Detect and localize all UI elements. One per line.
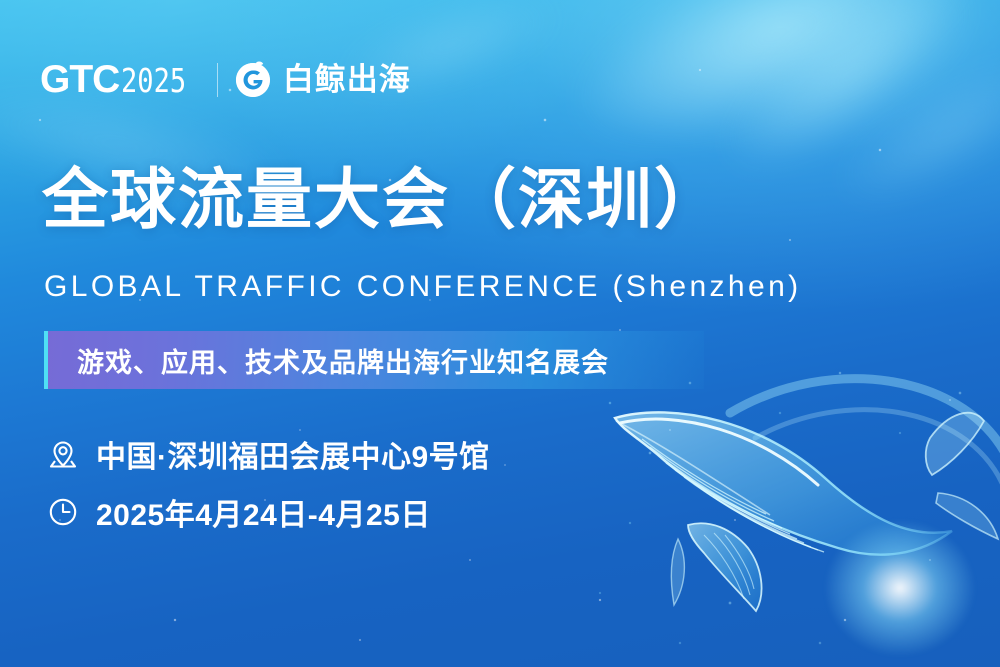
info-date-text: 2025年4月24日-4月25日 (96, 490, 431, 534)
gtc-logo: GTC 2025 (40, 60, 201, 99)
logo-divider (217, 63, 218, 97)
gtc-logo-text: GTC (40, 60, 119, 99)
location-pin-icon (46, 437, 80, 471)
nebula-wisp (548, 0, 1000, 185)
brand-name-text: 白鲸出海 (283, 64, 411, 95)
conference-banner: GTC 2025 白鲸出海 全球流量大会（深圳） GLOBAL TRAFFIC … (0, 0, 1000, 667)
page-title-en: GLOBAL TRAFFIC CONFERENCE (Shenzhen) (44, 270, 802, 304)
header-logo-row: GTC 2025 白鲸出海 (40, 60, 411, 99)
tagline-text: 游戏、应用、技术及品牌出海行业知名展会 (77, 341, 609, 380)
nebula-wisp (701, 0, 998, 198)
whale-circle-g-logo-icon (234, 61, 272, 99)
info-row-location: 中国·深圳福田会展中心9号馆 (46, 432, 490, 476)
info-location-text: 中国·深圳福田会展中心9号馆 (96, 432, 490, 476)
tagline-bar: 游戏、应用、技术及品牌出海行业知名展会 (44, 331, 704, 389)
particle-dust (580, 343, 1000, 667)
page-title-cn: 全球流量大会（深圳） (42, 166, 722, 232)
brand-logo: 白鲸出海 (234, 61, 411, 99)
info-row-date: 2025年4月24日-4月25日 (46, 490, 490, 534)
gtc-logo-year: 2025 (121, 64, 186, 97)
whale-vector (580, 343, 1000, 667)
event-info: 中国·深圳福田会展中心9号馆 2025年4月24日-4月25日 (46, 432, 490, 534)
whale-light-glow (795, 493, 1000, 667)
glowing-particle-whale-icon (580, 343, 1000, 667)
nebula-wisp (820, 35, 1000, 226)
tagline-accent-bar (44, 331, 48, 389)
clock-icon (46, 495, 80, 529)
